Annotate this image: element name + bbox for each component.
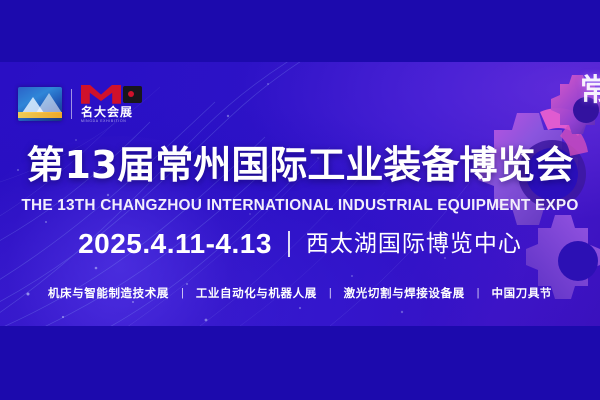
logo-divider [71, 89, 72, 119]
mountain-logo-icon [18, 87, 62, 121]
banner-artwork: 常 名大会展 MINGDA EXHIBITION 第13届常州国际工业装备博览会… [0, 62, 600, 326]
tag-separator: | [329, 288, 332, 299]
monogram-dot-shape [123, 86, 142, 103]
tag-separator: | [477, 288, 480, 299]
exhibition-tag-list: 机床与智能制造技术展 | 工业自动化与机器人展 | 激光切割与焊接设备展 | 中… [0, 288, 600, 300]
monogram-m-shape [81, 85, 121, 104]
event-venue: 西太湖国际博览中心 [306, 233, 522, 256]
page-subtitle: THE 13TH CHANGZHOU INTERNATIONAL INDUSTR… [10, 198, 590, 213]
tag-separator: | [181, 288, 184, 299]
monogram-m-icon [81, 85, 143, 104]
event-meta: 2025.4.11-4.13 西太湖国际博览中心 [0, 230, 600, 258]
tag-item: 工业自动化与机器人展 [196, 288, 317, 300]
tag-item: 机床与智能制造技术展 [48, 288, 169, 300]
page-title: 第13届常州国际工业装备博览会 [15, 146, 585, 184]
expo-poster: 常 名大会展 MINGDA EXHIBITION 第13届常州国际工业装备博览会… [0, 0, 600, 400]
tag-item: 激光切割与焊接设备展 [344, 288, 465, 300]
logo-gold-band [18, 112, 62, 118]
brand-name-en: MINGDA EXHIBITION [81, 120, 126, 123]
brand-logo: 名大会展 MINGDA EXHIBITION [18, 84, 143, 124]
gear-partial-glyph: 常 [580, 76, 600, 106]
logo-wordmark: 名大会展 MINGDA EXHIBITION [81, 85, 143, 123]
event-dates: 2025.4.11-4.13 [78, 230, 272, 258]
brand-name-cn: 名大会展 [81, 106, 133, 118]
tag-item: 中国刀具节 [492, 288, 553, 300]
logo-peak-shape-secondary [36, 93, 62, 113]
meta-separator [288, 231, 290, 257]
